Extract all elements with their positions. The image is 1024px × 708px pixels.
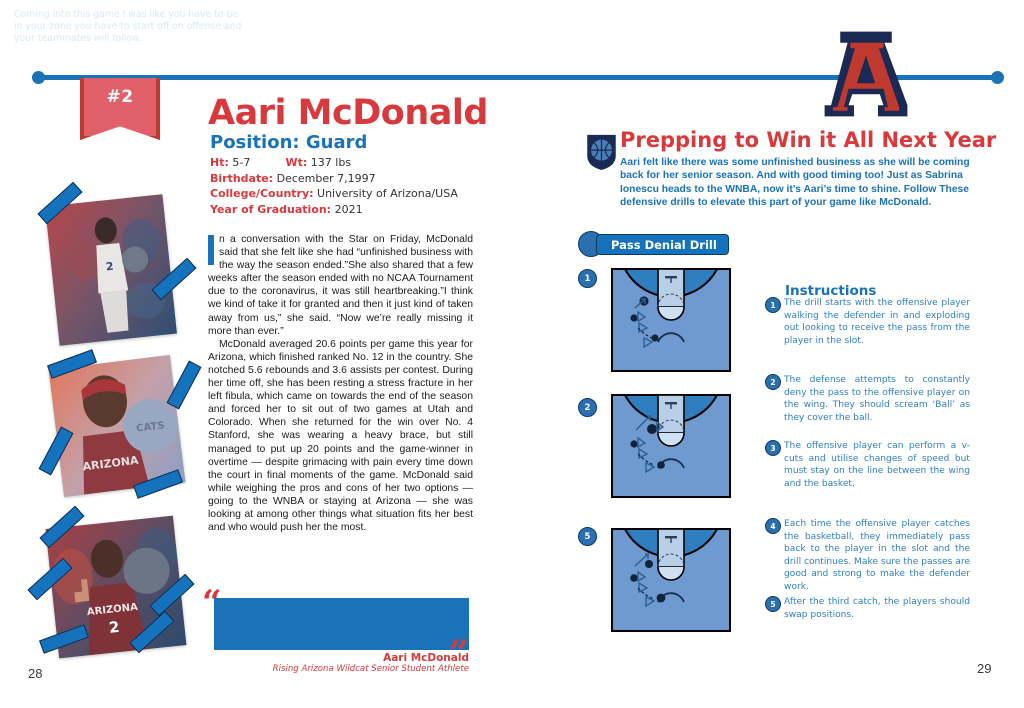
basketball-shield-icon — [585, 133, 618, 171]
diagram-number-5: 5 — [578, 527, 597, 546]
instruction-number-1: 1 — [765, 297, 781, 313]
pull-quote-attribution: Aari McDonald Rising Arizona Wildcat Sen… — [214, 652, 469, 674]
arizona-block-a-logo — [820, 28, 912, 120]
magazine-spread: #2 Aari McDonald Position: Guard Ht: 5-7… — [0, 0, 1024, 708]
court-diagram-1 — [611, 268, 731, 372]
article-paragraph-1: n a conversation with the Star on Friday… — [208, 233, 473, 338]
instruction-item-3: 3 The offensive player can perform a v-c… — [765, 440, 970, 490]
jersey-number-label: #2 — [106, 87, 133, 107]
athlete-facts: Ht: 5-7 Wt: 137 lbs Birthdate: December … — [210, 155, 510, 217]
court-diagram-2 — [611, 394, 731, 498]
svg-text:2: 2 — [108, 618, 120, 637]
right-page-title: Prepping to Win it All Next Year — [620, 128, 996, 152]
article-body: n a conversation with the Star on Friday… — [208, 233, 473, 534]
quote-author-role: Rising Arizona Wildcat Senior Student At… — [214, 664, 469, 674]
header-rule-dot-right — [991, 71, 1004, 84]
fact-birthdate: Birthdate: December 7,1997 — [210, 171, 510, 187]
athlete-position: Position: Guard — [210, 132, 367, 153]
instruction-number-5: 5 — [765, 596, 781, 612]
instruction-number-2: 2 — [765, 374, 781, 390]
photo-dribbling: 2 — [45, 194, 177, 346]
header-rule-dot-left — [32, 71, 45, 84]
instruction-number-3: 3 — [765, 440, 781, 456]
instruction-text-5: After the third catch, the players shoul… — [784, 596, 970, 621]
article-paragraph-2: McDonald averaged 20.6 points per game t… — [208, 338, 473, 534]
jersey-number-ribbon: #2 — [80, 78, 160, 140]
athlete-name: Aari McDonald — [208, 93, 488, 133]
pull-quote-text: Coming into this game I was like you hav… — [14, 9, 246, 46]
instruction-text-1: The drill starts with the offensive play… — [784, 297, 970, 347]
page-number-left: 28 — [28, 666, 42, 681]
pull-quote-box — [214, 598, 469, 650]
instruction-text-4: Each time the offensive player catches t… — [784, 518, 970, 594]
fact-graduation-year: Year of Graduation: 2021 — [210, 202, 510, 218]
right-page-intro: Aari felt like there was some unfinished… — [620, 156, 982, 209]
instruction-text-3: The offensive player can perform a v-cut… — [784, 440, 970, 490]
page-number-right: 29 — [977, 661, 991, 676]
drill-label-text: Pass Denial Drill — [611, 238, 717, 252]
instruction-text-2: The defense attempts to constantly deny … — [784, 374, 970, 424]
instruction-item-4: 4 Each time the offensive player catches… — [765, 518, 970, 594]
instruction-item-2: 2 The defense attempts to constantly den… — [765, 374, 970, 424]
fact-college-country: College/Country: University of Arizona/U… — [210, 186, 510, 202]
instruction-item-1: 1 The drill starts with the offensive pl… — [765, 297, 970, 347]
court-diagram-3 — [611, 528, 731, 632]
fact-height-weight: Ht: 5-7 Wt: 137 lbs — [210, 155, 510, 171]
diagram-number-1: 1 — [578, 269, 597, 288]
svg-text:2: 2 — [105, 260, 114, 274]
instruction-item-5: 5 After the third catch, the players sho… — [765, 596, 970, 621]
quote-author-name: Aari McDonald — [214, 652, 469, 664]
instruction-number-4: 4 — [765, 518, 781, 534]
diagram-number-2: 2 — [578, 398, 597, 417]
dropcap-bar — [208, 235, 214, 265]
drill-label-pill[interactable]: Pass Denial Drill — [596, 234, 729, 255]
